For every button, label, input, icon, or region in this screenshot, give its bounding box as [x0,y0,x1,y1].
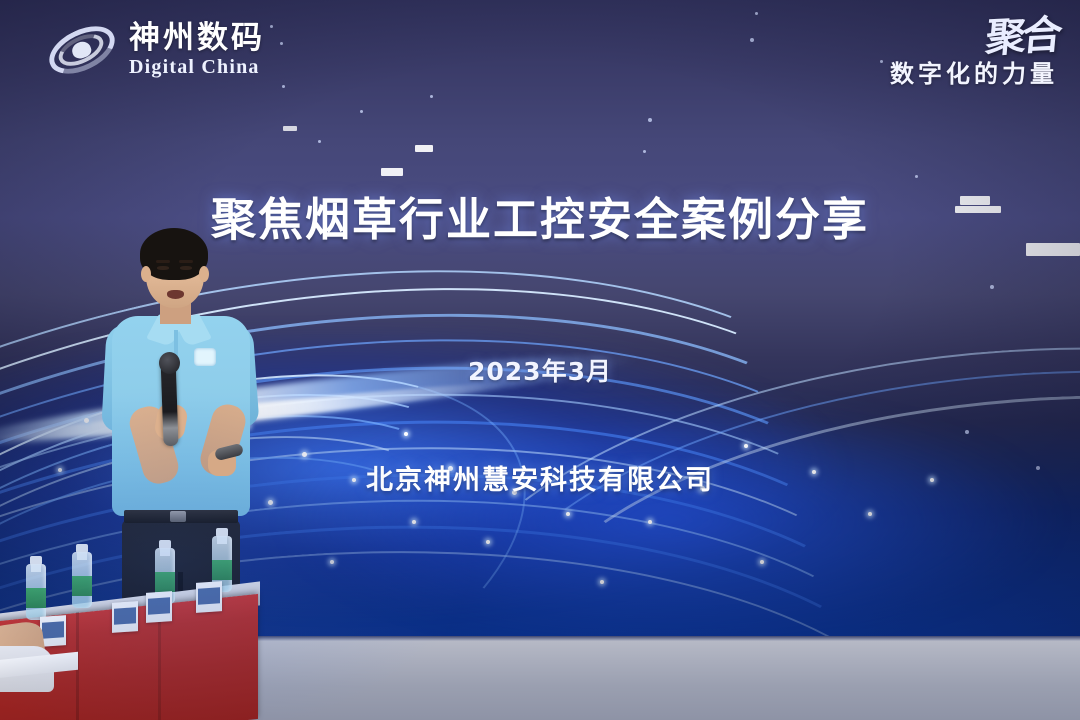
brand-logo-digital-china: 神州数码 Digital China [45,22,265,78]
sparkle-particle [600,580,604,584]
sparkle-particle [412,520,416,524]
sparkle-particle [648,520,652,524]
sparkle-particle [486,540,490,544]
company-emblem-icon [194,348,216,366]
tablecloth-fold [158,622,161,720]
speaker-mouth [167,290,184,299]
microphone-head [159,352,180,374]
water-bottle [72,552,92,608]
brand-name-en: Digital China [129,57,265,78]
brand-name-cn: 神州数码 [129,22,265,55]
sparkle-particle [84,418,89,423]
speaker-eye-left [157,266,169,270]
name-card [196,581,222,613]
sparkle-particle [330,560,334,564]
speaker-eye-right [180,266,192,270]
sparkle-particle [744,444,748,448]
sparkle-particle [268,500,273,505]
digital-china-swirl-icon [45,22,119,78]
name-card [112,601,138,633]
name-card [146,591,172,623]
event-calligraphy-mark: 聚合 [984,16,1060,58]
speaker-ear-left [141,266,151,282]
sparkle-particle [404,432,408,436]
foreground-table [0,560,270,720]
speaker-ear-right [199,266,209,282]
sparkle-particle [868,512,872,516]
water-bottle [26,564,46,620]
event-theme-logo: 聚合 数字化的力量 [890,18,1058,89]
speaker-brow-right [179,260,193,263]
sparkle-particle [302,452,307,457]
belt-buckle-icon [170,511,186,522]
speaker-brow-left [156,260,170,263]
sparkle-particle [566,512,570,516]
sparkle-particle [760,560,764,564]
stage-scene: 神州数码 Digital China 聚合 数字化的力量 聚焦烟草行业工控安全案… [0,0,1080,720]
